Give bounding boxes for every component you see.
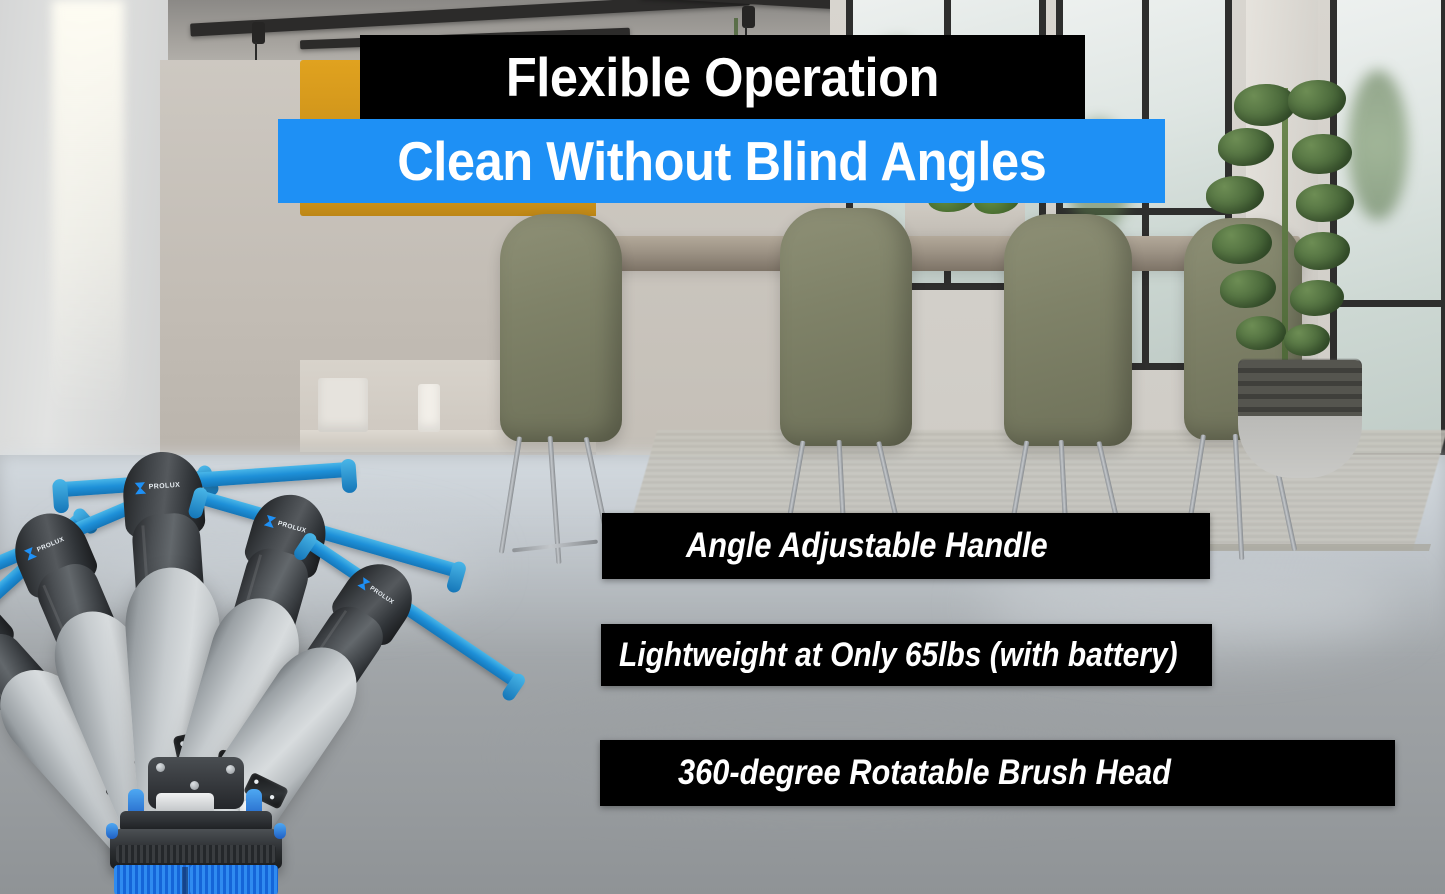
rotation-arrow-icon (60, 885, 360, 894)
brand-logo: PROLUX (134, 478, 191, 495)
brand-mark-icon (134, 482, 146, 495)
brand-wordmark: PROLUX (277, 520, 307, 534)
headline-line-1: Flexible Operation (506, 45, 939, 109)
brush-bumper (106, 823, 118, 839)
brand-logo: PROLUX (23, 530, 75, 561)
feature-callout-1: Angle Adjustable Handle (602, 513, 1210, 579)
feature-label-2: Lightweight at Only 65lbs (with battery) (619, 636, 1178, 675)
handlebar (193, 489, 465, 579)
promo-banner: PROLUX PROLUX (0, 0, 1445, 894)
brand-mark-icon (264, 514, 277, 528)
feature-callout-3: 360-degree Rotatable Brush Head (600, 740, 1395, 806)
rotatable-brush-head (86, 753, 306, 894)
headline-bar-secondary: Clean Without Blind Angles (278, 119, 1165, 203)
potted-fiddle-leaf-plant (1196, 58, 1376, 458)
brand-wordmark: PROLUX (148, 482, 180, 491)
brand-mark-icon (23, 546, 37, 560)
brand-logo: PROLUX (357, 576, 404, 613)
track-light (252, 22, 265, 44)
floor-scrubber-fan-array: PROLUX PROLUX (0, 205, 700, 894)
brand-wordmark: PROLUX (36, 536, 65, 553)
headline-bar-primary: Flexible Operation (360, 35, 1085, 119)
feature-callout-2: Lightweight at Only 65lbs (with battery) (601, 624, 1212, 686)
brush-bumper (274, 823, 286, 839)
headline-line-2: Clean Without Blind Angles (397, 129, 1046, 193)
feature-label-1: Angle Adjustable Handle (686, 526, 1048, 566)
feature-label-3: 360-degree Rotatable Brush Head (678, 753, 1171, 793)
brand-wordmark: PROLUX (369, 585, 395, 605)
brush-deck (110, 829, 282, 869)
